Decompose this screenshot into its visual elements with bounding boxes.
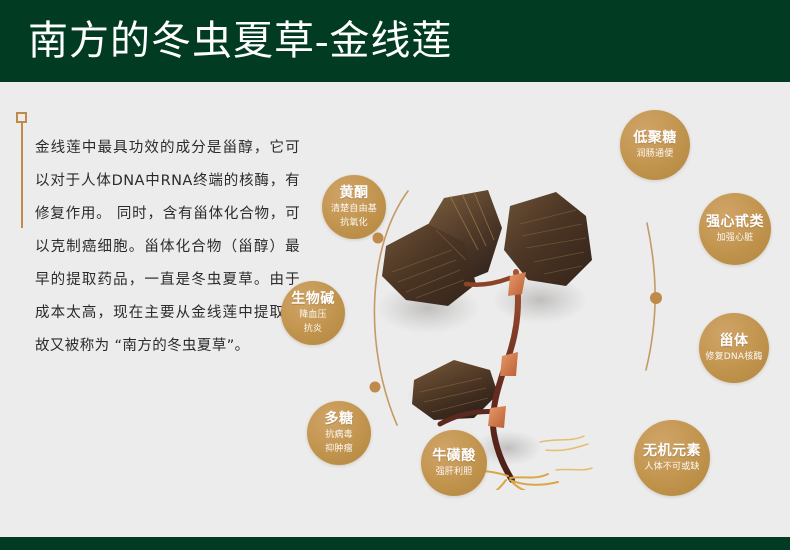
badge-duotang[interactable]: 多糖 抗病毒 抑肿瘤 [307,401,371,465]
badge-subtitle: 抑肿瘤 [325,444,353,456]
badge-subtitle: 清楚自由基 [331,204,377,216]
description-text: 金线莲中最具功效的成分是甾醇，它可以对于人体DNA中RNA终端的核酶，有修复作用… [35,132,300,363]
badge-title: 甾体 [720,333,749,350]
badge-huangtong[interactable]: 黄酮 清楚自由基 抗氧化 [322,175,386,239]
badge-subtitle: 润肠通便 [637,149,674,161]
right-arc-dot-1 [650,292,662,304]
page-title: 南方的冬虫夏草-金线莲 [28,16,452,66]
promo-page: 南方的冬虫夏草-金线莲 金线莲中最具功效的成分是甾醇，它可以对于人体DNA中RN… [0,0,790,550]
badge-subtitle: 抗炎 [304,324,322,336]
badge-title: 低聚糖 [633,130,677,147]
badge-niuhuangsuan[interactable]: 牛磺酸 强肝利胆 [421,430,487,496]
badge-title: 生物碱 [291,291,335,308]
badge-title: 多糖 [325,411,354,428]
badge-subtitle: 抗病毒 [325,430,353,442]
badge-subtitle: 抗氧化 [340,218,368,230]
badge-title: 强心甙类 [706,214,764,231]
badge-wuji[interactable]: 无机元素 人体不可或缺 [634,420,710,496]
badge-subtitle: 强肝利胆 [436,467,473,479]
badge-title: 无机元素 [643,443,701,460]
ingredient-composition: 黄酮 清楚自由基 抗氧化 低聚糖 润肠通便 强心甙类 加强心脏 生物碱 降血压 … [275,95,790,525]
badge-title: 牛磺酸 [432,448,476,465]
badge-digaotang[interactable]: 低聚糖 润肠通便 [620,110,690,180]
description-accent-line [21,118,23,228]
badge-subtitle: 降血压 [299,310,327,322]
badge-subtitle: 修复DNA核酶 [705,352,762,364]
badge-zaiti[interactable]: 甾体 修复DNA核酶 [699,313,769,383]
square-bullet-icon [16,112,27,123]
badge-subtitle: 人体不可或缺 [644,462,699,474]
badge-shengwujian[interactable]: 生物碱 降血压 抗炎 [281,281,345,345]
dried-plant-image [370,180,630,490]
footer-bar [0,537,790,550]
badge-qiangxin[interactable]: 强心甙类 加强心脏 [699,193,771,265]
badge-title: 黄酮 [340,185,369,202]
badge-subtitle: 加强心脏 [717,233,754,245]
